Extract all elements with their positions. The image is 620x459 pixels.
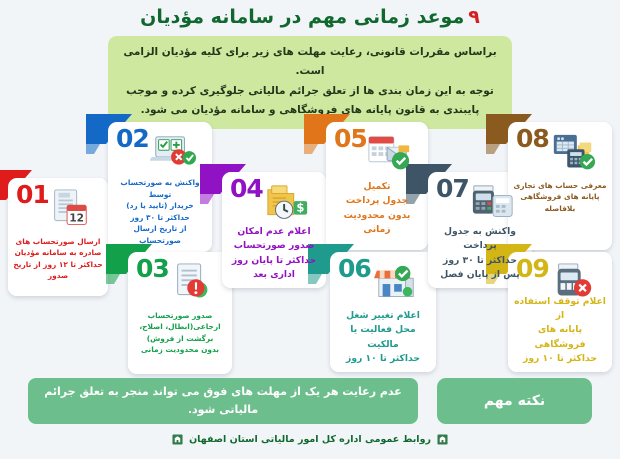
- intro-line-1: براساس مقررات قانونی، رعایت مهلت های زیر…: [122, 43, 498, 82]
- card-text-line: ارسال صورتحساب های: [13, 236, 103, 247]
- card-number-02: 02: [116, 126, 149, 151]
- card-text-08: معرفی حساب های تجاریپایانه های فروشگاهیب…: [508, 180, 612, 220]
- calendar-payment-check-icon: [366, 132, 412, 172]
- page-title: ۹موعد زمانی مهم در سامانه مؤدیان: [0, 6, 620, 28]
- card-body-01: 0112ارسال صورتحساب هایصادره به سامانه مؤ…: [8, 178, 108, 296]
- deadline-card-04[interactable]: 04$اعلام عدم امکانصدور صورتحسابحداکثر تا…: [222, 172, 326, 288]
- card-text-01: ارسال صورتحساب هایصادره به سامانه مؤدیان…: [8, 236, 108, 288]
- card-text-line: حداکثر تا ۱۰ روز: [513, 352, 607, 366]
- card-number-03: 03: [136, 256, 169, 281]
- card-text-line: بدون محدودیت زمانی: [133, 344, 227, 355]
- card-text-line: از تاریخ ارسال صورتحساب: [113, 223, 207, 246]
- bank-account-calculator-icon: [550, 132, 596, 172]
- card-text-line: تکمیل: [331, 180, 423, 194]
- card-text-line: صدور صورتحساب: [227, 239, 321, 253]
- card-header-03: 03: [128, 252, 232, 310]
- card-body-04: 04$اعلام عدم امکانصدور صورتحسابحداکثر تا…: [222, 172, 326, 288]
- card-header-04: 04$: [222, 172, 326, 225]
- card-text-line: ارجاعی(ابطال، اصلاح،: [133, 321, 227, 332]
- card-text-line: پایانه های فروشگاهی: [513, 323, 607, 352]
- card-body-06: 06اعلام تغییر شغلمحل فعالیت یا مالکیتحدا…: [330, 252, 436, 372]
- card-text-line: جدول پرداخت: [331, 194, 423, 208]
- document-alert-icon: [170, 262, 216, 302]
- svg-text:$: $: [296, 201, 304, 215]
- card-body-09: 09اعلام توقف استفاده ازپایانه های فروشگا…: [508, 252, 612, 372]
- card-text-line: برگشت از فروش): [133, 333, 227, 344]
- infographic-canvas: ۹موعد زمانی مهم در سامانه مؤدیان براساس …: [0, 0, 620, 459]
- card-number-08: 08: [516, 126, 549, 151]
- card-text-line: اعلام تغییر شغل: [335, 309, 431, 323]
- title-text: موعد زمانی مهم در سامانه مؤدیان: [140, 6, 464, 28]
- folder-clock-dollar-icon: $: [264, 182, 310, 222]
- title-number: ۹: [468, 6, 480, 28]
- deadline-card-09[interactable]: 09اعلام توقف استفاده ازپایانه های فروشگا…: [508, 252, 612, 372]
- svg-text:12: 12: [69, 213, 84, 225]
- card-text-06: اعلام تغییر شغلمحل فعالیت یا مالکیتحداکث…: [330, 309, 436, 372]
- deadline-card-01[interactable]: 0112ارسال صورتحساب هایصادره به سامانه مؤ…: [8, 178, 108, 296]
- card-text-line: حداکثر تا ۱۲ روز از تاریخ: [13, 259, 103, 270]
- shop-check-icon: [374, 262, 420, 302]
- card-body-02: 02واکنش به صورتحساب توسطخریدار (تایید یا…: [108, 122, 212, 252]
- card-text-line: بدون محدودیت زمانی: [331, 209, 423, 238]
- card-text-line: حداکثر تا ۱۰ روز: [335, 352, 431, 366]
- invoice-calendar-icon: 12: [46, 188, 92, 228]
- emblem-icon-right: [437, 434, 448, 445]
- card-text-line: اعلام عدم امکان: [227, 225, 321, 239]
- deadline-card-05[interactable]: 05تکمیلجدول پرداختبدون محدودیت زمانی: [326, 122, 428, 250]
- important-note-bar: عدم رعایت هر یک از مهلت های فوق می تواند…: [28, 378, 418, 424]
- card-header-02: 02: [108, 122, 212, 177]
- card-text-04: اعلام عدم امکانصدور صورتحسابحداکثر تا پا…: [222, 225, 326, 288]
- card-body-03: 03صدور صورتحسابارجاعی(ابطال، اصلاح،برگشت…: [128, 252, 232, 374]
- card-text-line: حداکثر تا ۳۰ روز: [113, 212, 207, 223]
- card-text-05: تکمیلجدول پرداختبدون محدودیت زمانی: [326, 180, 428, 243]
- card-text-line: حداکثر تا پایان روز اداری بعد: [227, 254, 321, 283]
- card-text-line: اعلام توقف استفاده از: [513, 295, 607, 324]
- card-header-01: 0112: [8, 178, 108, 236]
- card-body-05: 05تکمیلجدول پرداختبدون محدودیت زمانی: [326, 122, 428, 250]
- card-text-line: بلافاصله: [513, 203, 607, 214]
- deadline-card-02[interactable]: 02واکنش به صورتحساب توسطخریدار (تایید یا…: [108, 122, 212, 252]
- card-text-line: محل فعالیت یا مالکیت: [335, 323, 431, 352]
- card-number-06: 06: [338, 256, 371, 281]
- important-note-badge: نکته مهم: [437, 378, 592, 424]
- card-header-09: 09: [508, 252, 612, 295]
- footer: روابط عمومی اداره کل امور مالیاتی استان …: [0, 434, 620, 445]
- emblem-icon-left: [172, 434, 183, 445]
- card-text-09: اعلام توقف استفاده ازپایانه های فروشگاهی…: [508, 295, 612, 372]
- card-text-line: صدور: [13, 270, 103, 281]
- card-number-04: 04: [230, 176, 263, 201]
- card-text-02: واکنش به صورتحساب توسطخریدار (تایید یا ر…: [108, 177, 212, 252]
- card-text-line: پایانه های فروشگاهی: [513, 191, 607, 202]
- card-number-05: 05: [334, 126, 367, 151]
- card-header-06: 06: [330, 252, 436, 309]
- card-header-05: 05: [326, 122, 428, 180]
- laptop-approve-reject-icon: [150, 132, 196, 172]
- intro-line-2: توجه به این زمان بندی ها از تعلق جرائم م…: [122, 82, 498, 101]
- card-text-03: صدور صورتحسابارجاعی(ابطال، اصلاح،برگشت ا…: [128, 310, 232, 362]
- note-line-1: عدم رعایت هر یک از مهلت های فوق می تواند…: [79, 385, 401, 398]
- card-header-08: 08: [508, 122, 612, 180]
- card-text-line: معرفی حساب های تجاری: [513, 180, 607, 191]
- deadline-card-06[interactable]: 06اعلام تغییر شغلمحل فعالیت یا مالکیتحدا…: [330, 252, 436, 372]
- card-number-01: 01: [16, 182, 49, 207]
- card-text-line: واکنش به صورتحساب توسط: [113, 177, 207, 200]
- footer-text: روابط عمومی اداره کل امور مالیاتی استان …: [189, 434, 431, 445]
- card-number-09: 09: [516, 256, 549, 281]
- card-text-line: صدور صورتحساب: [133, 310, 227, 321]
- card-text-line: صادره به سامانه مؤدیان: [13, 247, 103, 258]
- card-number-07: 07: [436, 176, 469, 201]
- deadline-card-03[interactable]: 03صدور صورتحسابارجاعی(ابطال، اصلاح،برگشت…: [128, 252, 232, 374]
- card-text-line: خریدار (تایید یا رد): [113, 200, 207, 211]
- card-text-line: واکنش به جدول پرداخت: [433, 225, 527, 254]
